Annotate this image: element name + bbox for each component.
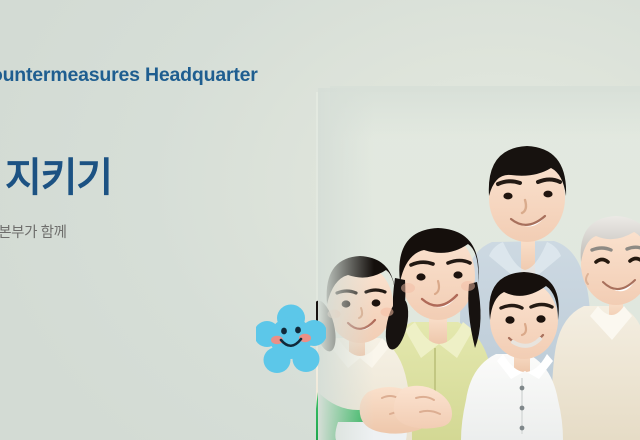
banner-headline-line-2: | 가족 지키기 [0, 154, 374, 204]
hero-banner: l Safety Countermeasures Headquarter 터 |… [0, 0, 640, 440]
banner-headline: 터 | 가족 지키기 [0, 104, 374, 203]
flower-petals [256, 305, 326, 374]
banner-text-block: l Safety Countermeasures Headquarter 터 |… [0, 62, 374, 268]
flower-mascot-svg [256, 303, 326, 373]
banner-subcopy-line-1: 로 재난안전대책본부가 함께 [0, 222, 374, 245]
family-hands [360, 386, 452, 434]
banner-headline-line-1: 터 [0, 104, 374, 154]
banner-eyebrow-english: l Safety Countermeasures Headquarter [0, 62, 374, 88]
banner-subcopy-line-2: 복을 지킵니다. [0, 245, 374, 268]
smiling-flower-mascot-icon [256, 303, 326, 373]
banner-subcopy: 로 재난안전대책본부가 함께 복을 지킵니다. [0, 222, 374, 269]
